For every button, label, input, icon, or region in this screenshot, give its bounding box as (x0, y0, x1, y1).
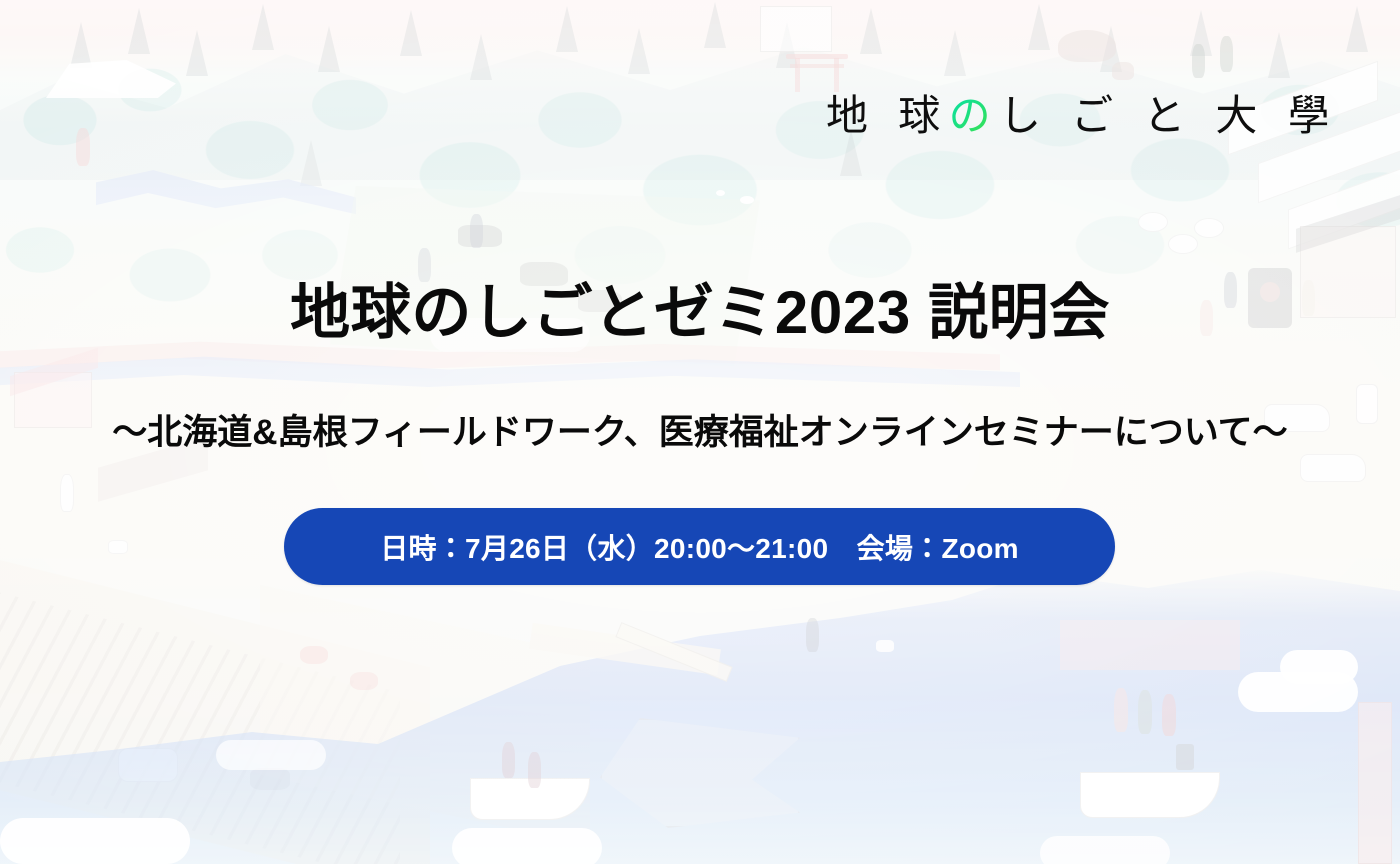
page-title: 地球のしごとゼミ2023 説明会 (0, 281, 1400, 344)
banner-content: 地 球 の し ご と 大 學 地球のしごとゼミ2023 説明会 〜北海道&島根… (0, 0, 1400, 864)
logo-recycle-no-icon: の (949, 82, 999, 143)
promo-banner: 地 球 の し ご と 大 學 地球のしごとゼミ2023 説明会 〜北海道&島根… (0, 0, 1400, 864)
brand-logo[interactable]: 地 球 の し ご と 大 學 (826, 82, 1338, 143)
event-details-badge: 日時：7月26日（水）20:00〜21:00 会場：Zoom (284, 508, 1115, 585)
event-details-text: 日時：7月26日（水）20:00〜21:00 会場：Zoom (380, 527, 1019, 567)
page-subtitle: 〜北海道&島根フィールドワーク、医療福祉オンラインセミナーについて〜 (0, 404, 1400, 455)
logo-text-part2: し ご と 大 學 (999, 82, 1338, 143)
logo-text-part1: 地 球 (826, 82, 949, 143)
